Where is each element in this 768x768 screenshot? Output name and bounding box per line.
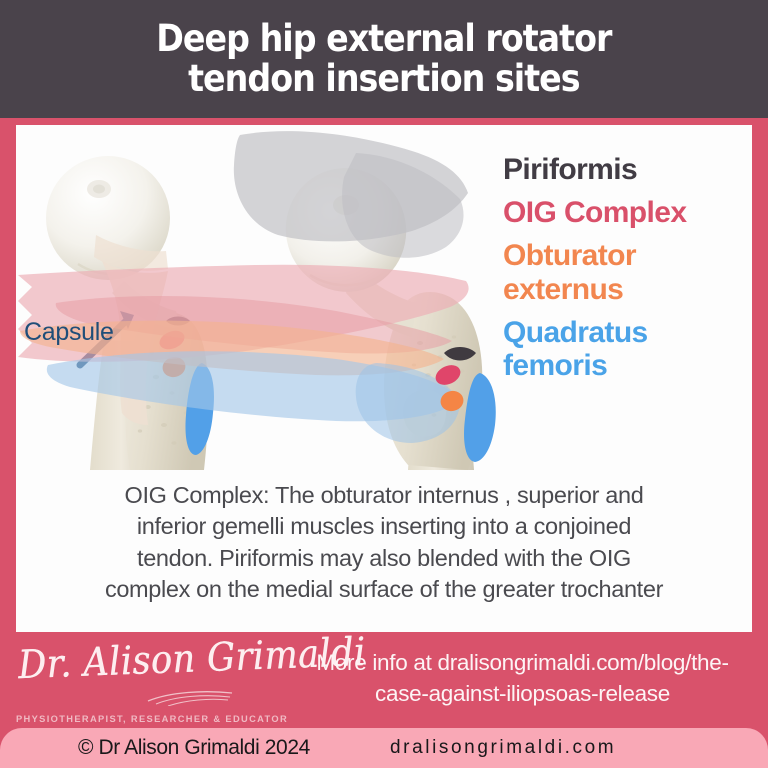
logo-tagline: PHYSIOTHERAPIST, RESEARCHER & EDUCATOR [16, 714, 288, 724]
capsule-label: Capsule [24, 318, 114, 347]
legend-quadratus-femoris: Quadratus femoris [503, 316, 752, 384]
legend-oig-complex: OIG Complex [503, 196, 752, 230]
header-banner: Deep hip external rotator tendon inserti… [0, 0, 768, 118]
bottom-bar: © Dr Alison Grimaldi 2024 dralisongrimal… [0, 728, 768, 768]
legend-piriformis: Piriformis [503, 153, 752, 187]
logo-flourish-icon [146, 688, 236, 706]
description-paragraph: OIG Complex: The obturator internus , su… [30, 480, 738, 605]
brand-logo: Dr. Alison Grimaldi [18, 646, 278, 686]
more-info-url[interactable]: More info at dralisongrimaldi.com/blog/t… [290, 648, 755, 709]
content-card: Capsule Piriformis OIG Complex Obturator… [16, 125, 752, 632]
legend: Piriformis OIG Complex Obturator externu… [503, 153, 752, 392]
logo-script-name: Dr. Alison Grimaldi [17, 634, 279, 689]
page-title: Deep hip external rotator tendon inserti… [156, 19, 611, 98]
legend-obturator-externus: Obturator externus [503, 239, 752, 307]
website-url[interactable]: dralisongrimaldi.com [390, 737, 616, 759]
copyright-text: © Dr Alison Grimaldi 2024 [78, 736, 310, 760]
